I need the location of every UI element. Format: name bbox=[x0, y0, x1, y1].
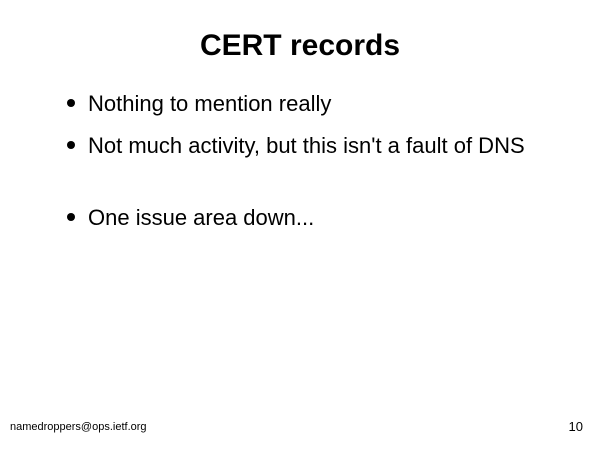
list-item: One issue area down... bbox=[66, 204, 576, 232]
filled-circle-bullet-icon bbox=[67, 99, 75, 107]
list-item-label: Nothing to mention really bbox=[88, 90, 331, 118]
filled-circle-bullet-icon bbox=[67, 213, 75, 221]
filled-circle-bullet-icon bbox=[67, 141, 75, 149]
slide-page-number: 10 bbox=[569, 420, 583, 434]
page-title: CERT records bbox=[0, 28, 600, 64]
list-item-label: One issue area down... bbox=[88, 204, 314, 232]
list-item: Nothing to mention really bbox=[66, 90, 576, 118]
list-item-label: Not much activity, but this isn't a faul… bbox=[88, 132, 525, 160]
presentation-slide: CERT records Nothing to mention really N… bbox=[0, 0, 600, 450]
footer-email-address: namedroppers@ops.ietf.org bbox=[10, 420, 147, 434]
bullet-list: Nothing to mention really Not much activ… bbox=[66, 90, 576, 246]
list-item: Not much activity, but this isn't a faul… bbox=[66, 132, 576, 160]
